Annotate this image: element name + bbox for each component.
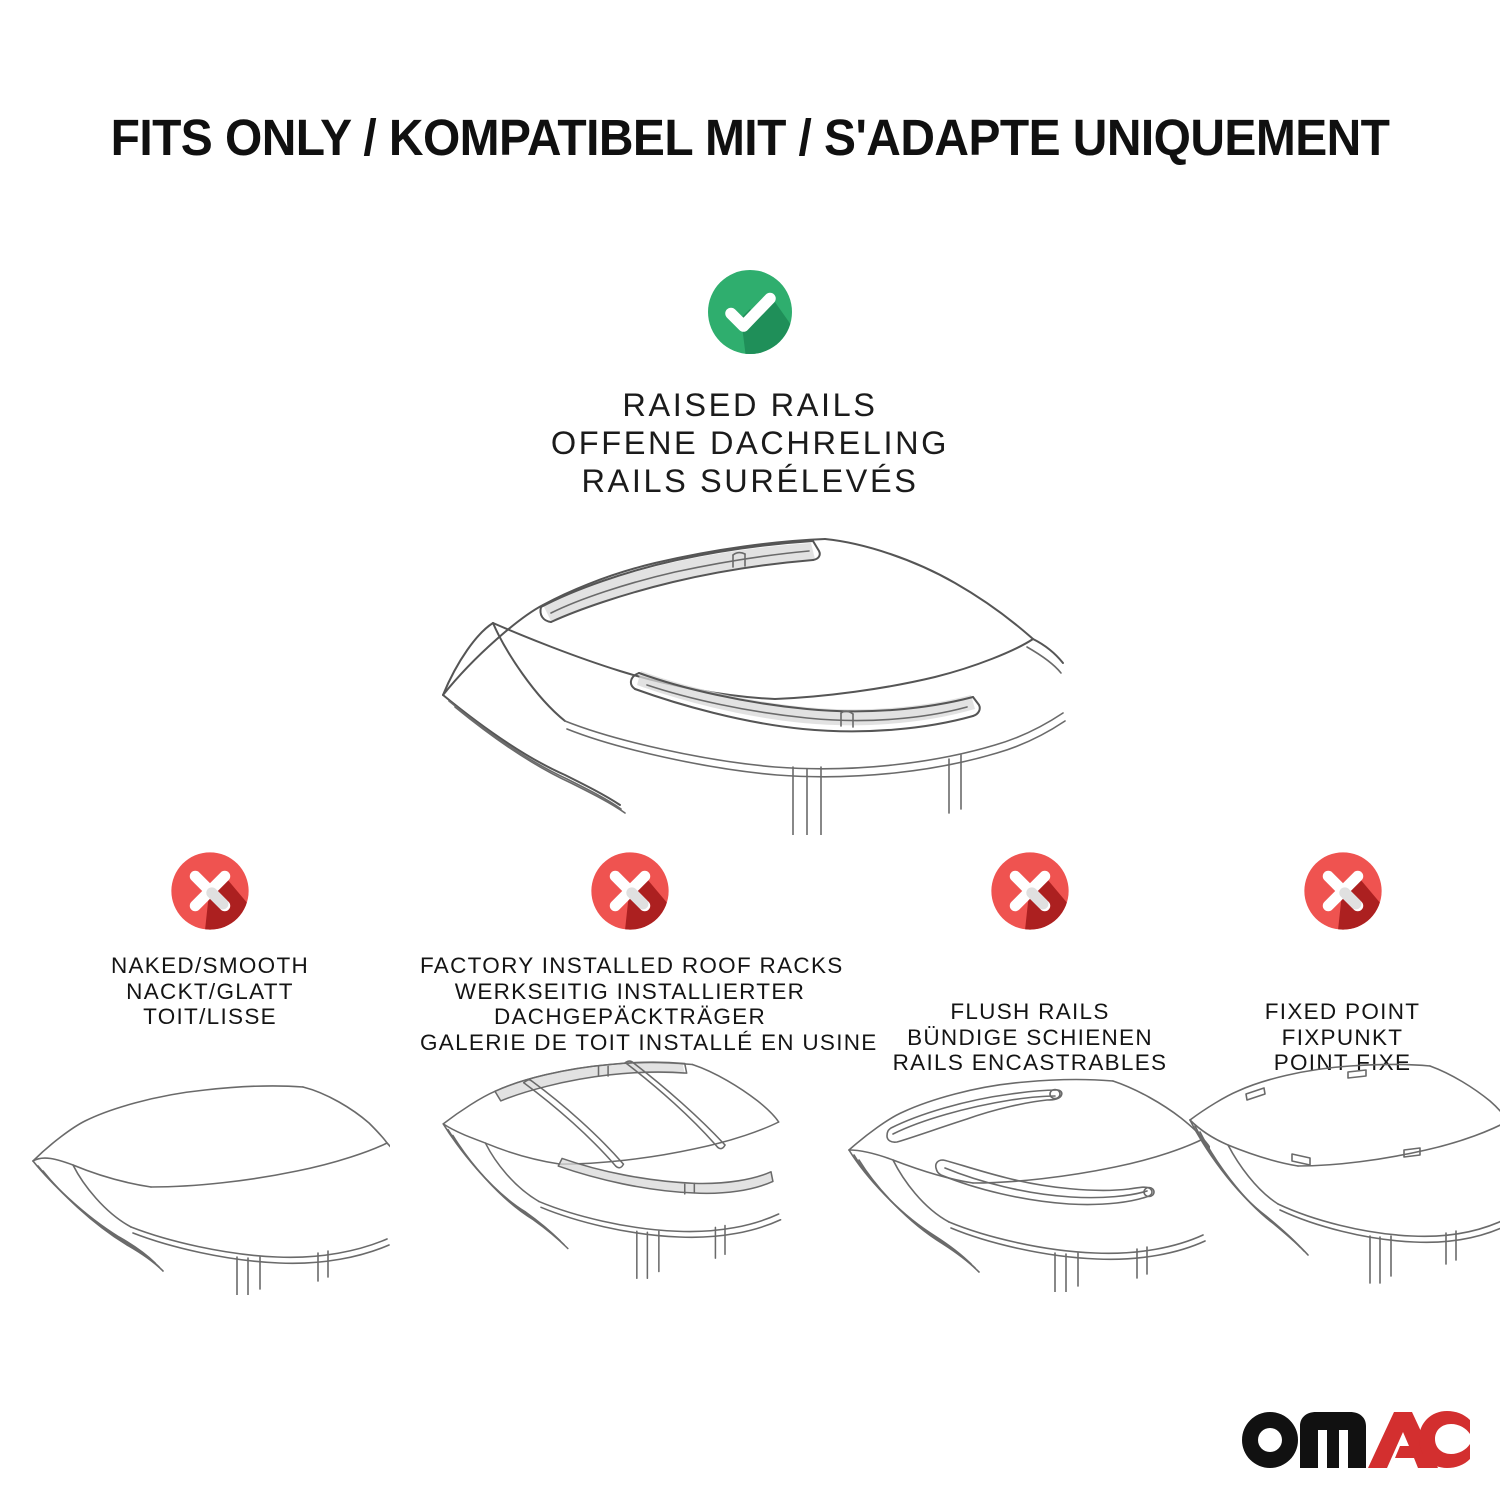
- incompatible-label-line: FIXED POINT: [1210, 999, 1475, 1025]
- omac-logo: [1238, 1404, 1470, 1470]
- incompatible-label-line: FACTORY INSTALLED ROOF RACKS: [420, 953, 840, 979]
- compatible-label-line-1: RAISED RAILS: [0, 386, 1500, 424]
- incompatible-label-line: FLUSH RAILS: [845, 999, 1215, 1025]
- incompatible-label-line: NAKED/SMOOTH: [25, 953, 395, 979]
- compatibility-infographic: FITS ONLY / KOMPATIBEL MIT / S'ADAPTE UN…: [0, 0, 1500, 1500]
- car-roof-flush-rails-illustration: [835, 1062, 1210, 1292]
- incompatible-label-line: NACKT/GLATT: [25, 979, 395, 1005]
- cross-circle-icon: [25, 845, 395, 937]
- incompatible-label-line: TOIT/LISSE: [25, 1004, 395, 1030]
- cross-circle-icon: [845, 845, 1215, 937]
- incompatible-label-line: FIXPUNKT: [1210, 1025, 1475, 1051]
- check-circle-icon: [0, 262, 1500, 362]
- compatible-section: RAISED RAILS OFFENE DACHRELING RAILS SUR…: [0, 262, 1500, 500]
- incompatible-label-line: BÜNDIGE SCHIENEN: [845, 1025, 1215, 1051]
- car-roof-fixed-point-illustration: [1180, 1058, 1500, 1288]
- incompatible-label-line: WERKSEITIG INSTALLIERTER: [420, 979, 840, 1005]
- car-roof-factory-racks-illustration: [420, 1053, 800, 1283]
- incompatible-item-naked-smooth: NAKED/SMOOTH NACKT/GLATT TOIT/LISSE: [25, 845, 395, 1030]
- car-roof-naked-smooth-illustration: [15, 1065, 390, 1295]
- page-title: FITS ONLY / KOMPATIBEL MIT / S'ADAPTE UN…: [45, 108, 1455, 167]
- cross-circle-icon: [1210, 845, 1475, 937]
- incompatible-item-flush-rails: FLUSH RAILS BÜNDIGE SCHIENEN RAILS ENCAS…: [845, 845, 1215, 1076]
- incompatible-label-line: GALERIE DE TOIT INSTALLÉ EN USINE: [420, 1030, 840, 1056]
- car-roof-raised-rails-illustration: [415, 505, 1085, 835]
- incompatible-item-fixed-point: FIXED POINT FIXPUNKT POINT FIXE: [1210, 845, 1475, 1076]
- incompatible-item-factory-installed-roof-racks: FACTORY INSTALLED ROOF RACKS WERKSEITIG …: [420, 845, 840, 1055]
- compatible-label-line-3: RAILS SURÉLEVÉS: [0, 462, 1500, 500]
- compatible-label-line-2: OFFENE DACHRELING: [0, 424, 1500, 462]
- cross-circle-icon: [420, 845, 840, 937]
- incompatible-label-line: DACHGEPÄCKTRÄGER: [420, 1004, 840, 1030]
